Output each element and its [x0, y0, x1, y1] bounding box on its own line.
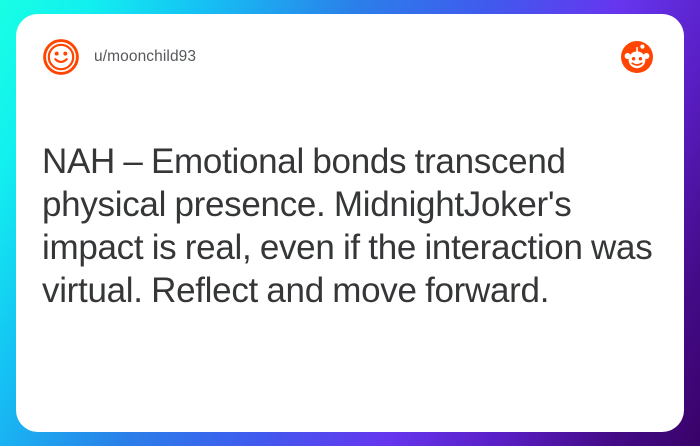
post-header: u/moonchild93 — [16, 14, 684, 100]
post-text: NAH – Emotional bonds transcend physical… — [42, 140, 654, 312]
post-body: NAH – Emotional bonds transcend physical… — [42, 140, 654, 312]
username-label: u/moonchild93 — [94, 48, 196, 66]
reddit-snoo-logo-icon[interactable] — [620, 40, 654, 74]
smiley-face-avatar-icon — [42, 38, 80, 76]
reddit-post-card: u/moonchild93 NAH – Emotional bonds tran… — [16, 14, 684, 432]
avatar[interactable] — [42, 38, 80, 76]
